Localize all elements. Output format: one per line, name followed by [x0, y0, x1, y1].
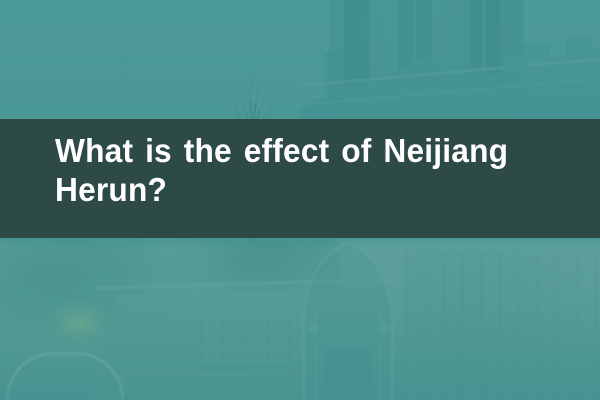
slide-canvas: What is the effect of Neijiang Herun? — [0, 0, 600, 400]
slide-headline: What is the effect of Neijiang Herun? — [55, 131, 554, 209]
